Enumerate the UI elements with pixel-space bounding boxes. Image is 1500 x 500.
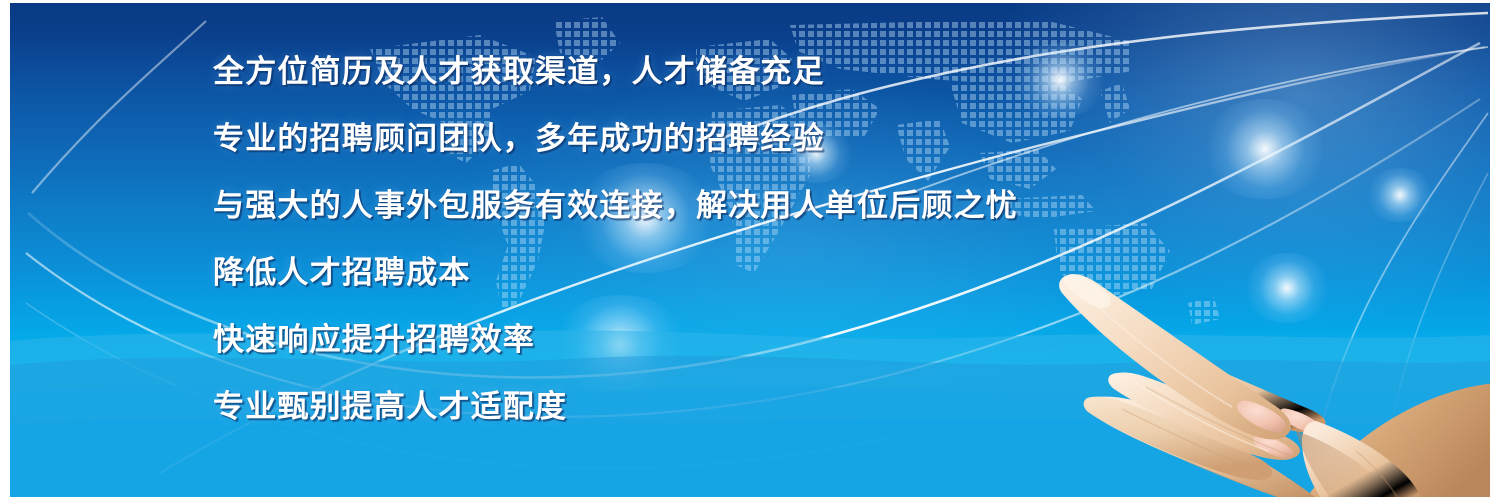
headline-line-2: 专业的招聘顾问团队，多年成功的招聘经验 (213, 106, 1393, 173)
headline-line-1: 全方位简历及人才获取渠道，人才储备充足 (213, 39, 1393, 106)
promo-banner: 全方位简历及人才获取渠道，人才储备充足 专业的招聘顾问团队，多年成功的招聘经验 … (0, 0, 1500, 500)
headline-list: 全方位简历及人才获取渠道，人才储备充足 专业的招聘顾问团队，多年成功的招聘经验 … (213, 39, 1393, 441)
headline-line-6: 专业甄别提高人才适配度 (213, 374, 1393, 441)
headline-line-3: 与强大的人事外包服务有效连接，解决用人单位后顾之忧 (213, 173, 1393, 240)
banner-artwork: 全方位简历及人才获取渠道，人才储备充足 专业的招聘顾问团队，多年成功的招聘经验 … (10, 3, 1490, 497)
headline-line-5: 快速响应提升招聘效率 (213, 307, 1393, 374)
headline-line-4: 降低人才招聘成本 (213, 240, 1393, 307)
